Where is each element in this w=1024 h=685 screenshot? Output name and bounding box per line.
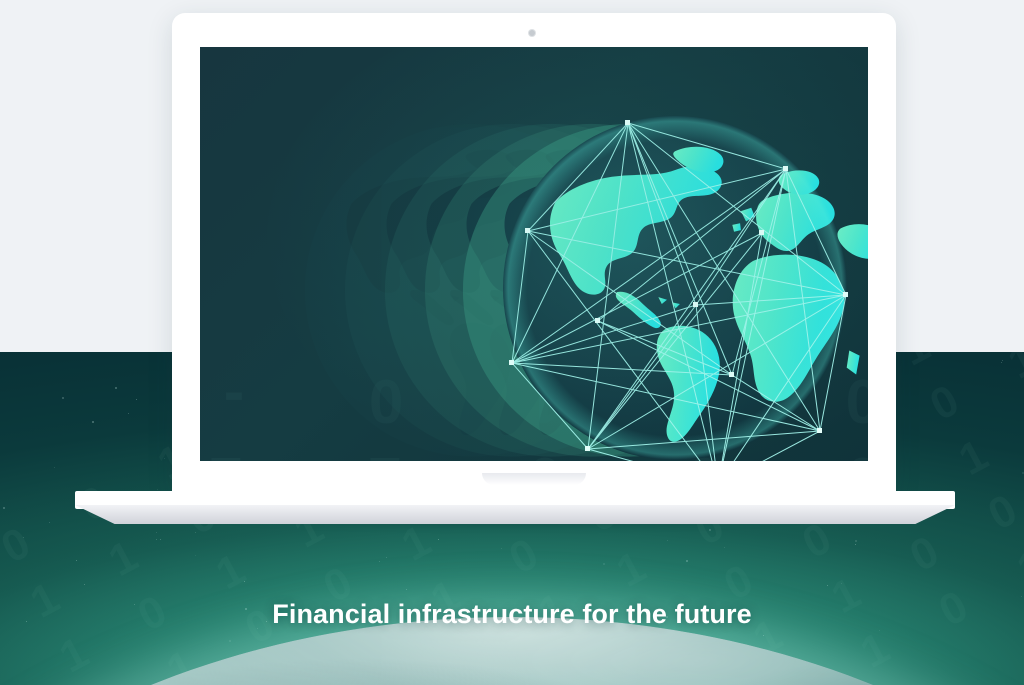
hero-stage: 0 1 0 0 1 0 1 1 0 0 1 0 1 0 0 11 0 1 1 0… (0, 0, 1024, 685)
lid-chin (172, 461, 896, 491)
star-dot (379, 561, 380, 562)
star-dot (164, 458, 165, 459)
star-dot (195, 555, 196, 556)
star-dot (406, 589, 407, 590)
screen-vignette (200, 47, 868, 461)
star-dot (3, 507, 5, 509)
star-dot (1001, 362, 1002, 363)
star-dot (160, 539, 161, 540)
star-dot (49, 522, 50, 523)
star-dot (128, 413, 129, 414)
star-dot (386, 557, 387, 558)
star-dot (1002, 360, 1003, 361)
star-dot (667, 540, 668, 541)
lid-notch (482, 473, 586, 485)
star-dot (76, 560, 77, 561)
star-dot (62, 397, 64, 399)
star-dot (244, 581, 245, 582)
star-dot (501, 548, 502, 549)
laptop-screen[interactable]: 0 0 0 1 1 0 1 1 0 - 1 (200, 47, 868, 461)
star-dot (763, 635, 764, 636)
laptop-lid: 0 0 0 1 1 0 1 1 0 - 1 (172, 13, 896, 491)
star-dot (438, 539, 439, 540)
star-dot (855, 544, 856, 545)
star-dot (724, 547, 725, 548)
star-dot (855, 540, 857, 542)
star-dot (686, 560, 688, 562)
star-dot (229, 640, 231, 642)
star-dot (1021, 596, 1022, 597)
star-dot (157, 489, 158, 490)
page-title: Financial infrastructure for the future (0, 599, 1024, 630)
star-dot (879, 630, 880, 631)
laptop-base-front-edge (75, 505, 955, 524)
star-dot (827, 585, 828, 586)
star-dot (603, 563, 605, 565)
star-dot (136, 399, 137, 400)
star-dot (841, 583, 842, 584)
star-dot (23, 537, 24, 538)
star-dot (115, 387, 117, 389)
webcam-icon (529, 30, 535, 36)
star-dot (54, 467, 55, 468)
star-dot (156, 539, 157, 540)
star-dot (84, 584, 85, 585)
star-dot (92, 421, 94, 423)
